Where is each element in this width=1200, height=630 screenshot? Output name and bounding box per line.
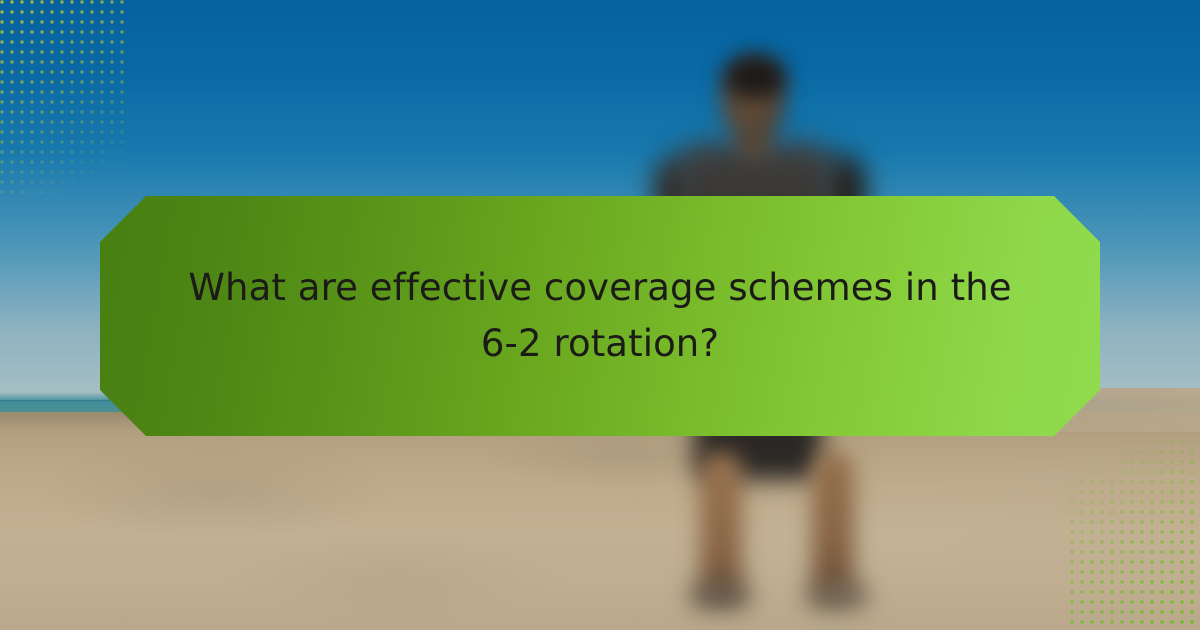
- headline-text: What are effective coverage schemes in t…: [170, 260, 1030, 372]
- person-right-foot: [806, 584, 868, 608]
- person-right-leg: [812, 452, 854, 600]
- screenshot-canvas: What are effective coverage schemes in t…: [0, 0, 1200, 630]
- headline-banner: What are effective coverage schemes in t…: [100, 196, 1100, 436]
- halftone-dots-top-left: [0, 0, 130, 200]
- person-left-leg: [700, 452, 742, 600]
- halftone-dots-bottom-right: [1070, 430, 1200, 630]
- person-hair: [724, 54, 786, 98]
- person-left-foot: [690, 584, 750, 608]
